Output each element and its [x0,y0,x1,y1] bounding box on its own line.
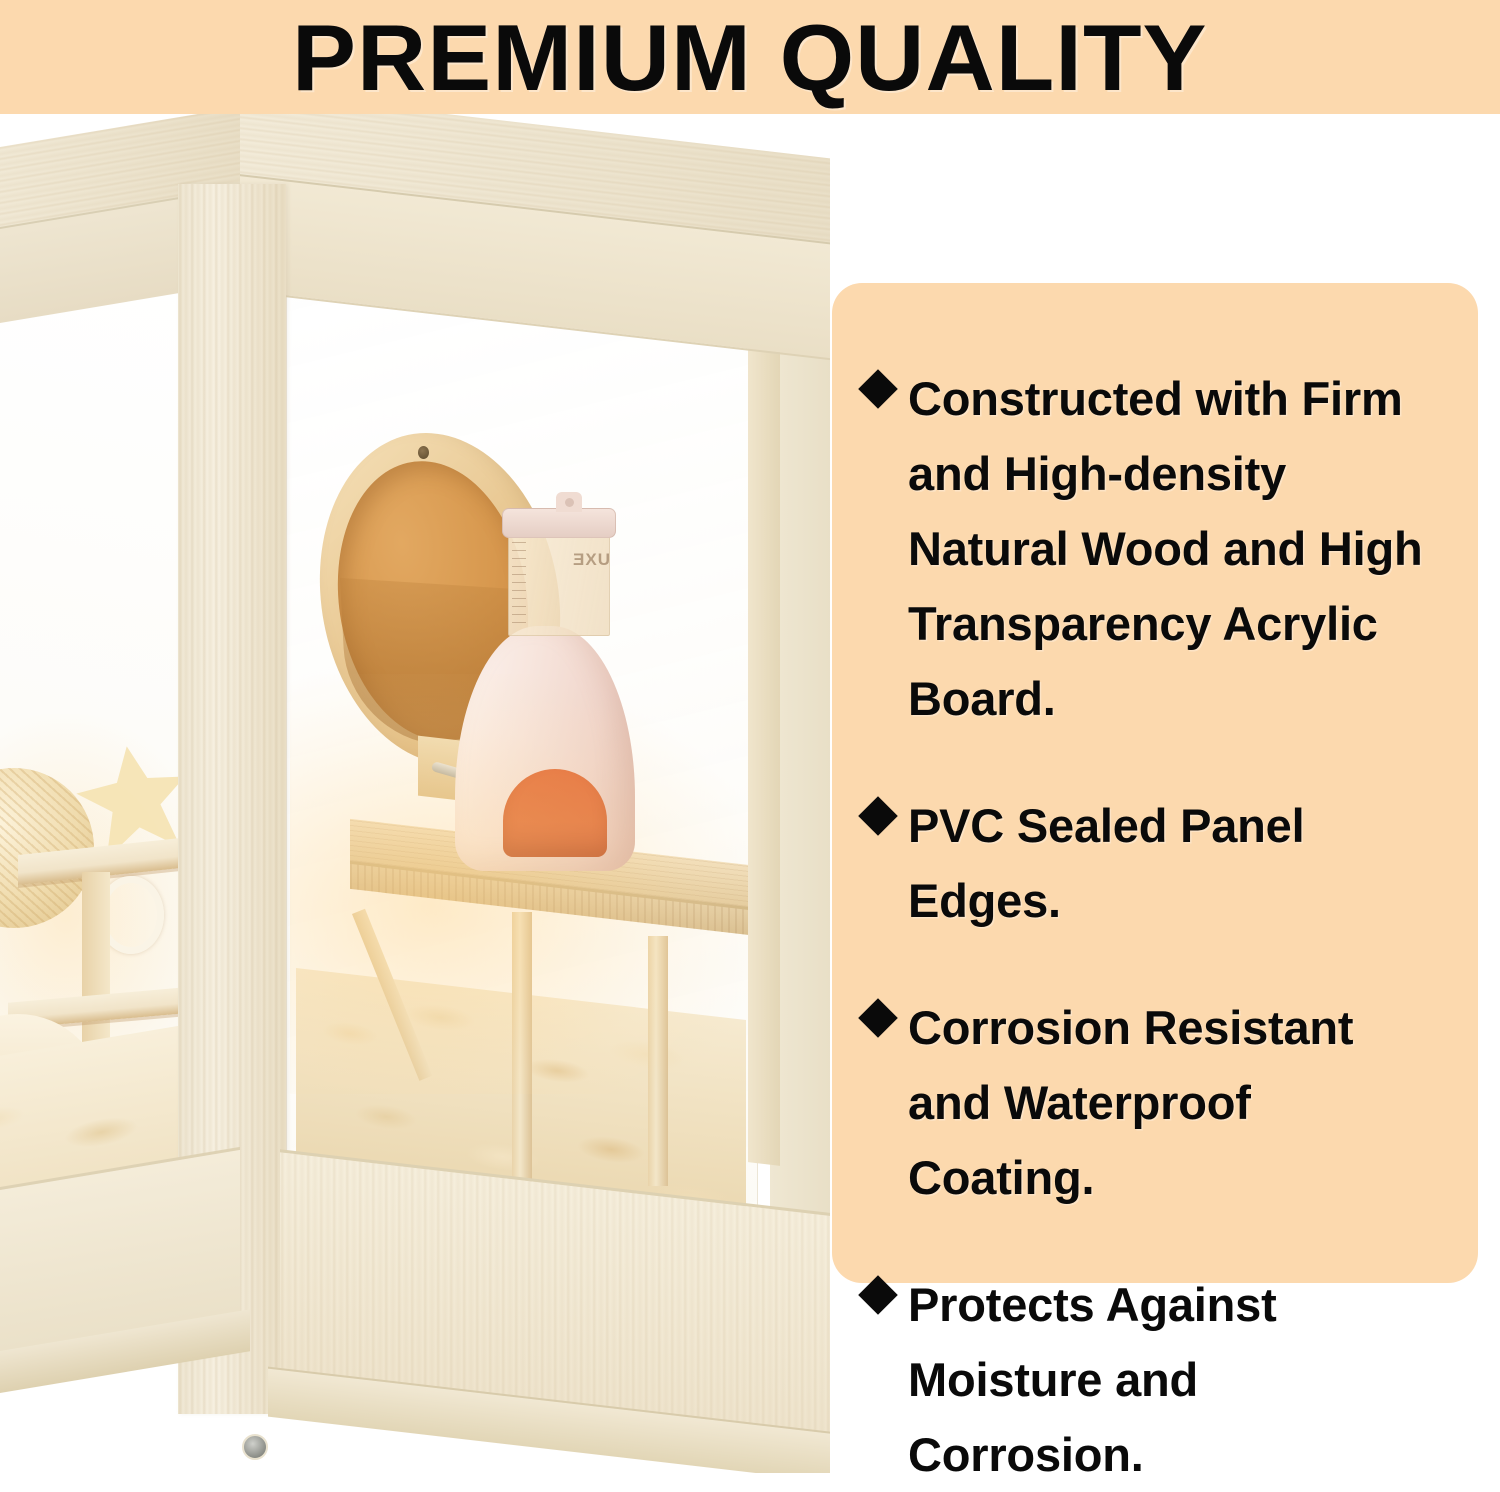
diamond-bullet-icon [858,796,898,836]
feature-bullet-text: PVC Sealed Panel Edges. [908,788,1446,938]
product-photo: UXE [0,114,830,1473]
feature-panel: Constructed with Firm and High-density N… [832,283,1478,1283]
screw-icon [242,1434,268,1460]
water-bottle-cap [502,508,616,538]
diamond-bullet-icon [858,998,898,1038]
header-banner: PREMIUM QUALITY [0,0,1500,114]
feature-bullet-text: Constructed with Firm and High-density N… [908,361,1446,736]
water-bottle-label: UXE [572,550,610,568]
screw-icon [418,446,429,459]
feature-bullet: PVC Sealed Panel Edges. [864,788,1446,938]
feature-bullet-text: Protects Against Moisture and Corrosion. [908,1267,1446,1492]
feature-bullet: Protects Against Moisture and Corrosion. [864,1267,1446,1492]
platform-left-leg [82,872,110,1052]
cage-stile-right [748,282,780,1166]
feature-bullet: Constructed with Firm and High-density N… [864,361,1446,736]
feature-bullet-text: Corrosion Resistant and Waterproof Coati… [908,990,1446,1215]
shelf-leg [512,912,532,1197]
water-bottle-hanger-hole [565,498,574,507]
water-bottle-scale [512,526,526,626]
page-title: PREMIUM QUALITY [292,11,1207,105]
diamond-bullet-icon [858,1275,898,1315]
diamond-bullet-icon [858,369,898,409]
feature-bullet: Corrosion Resistant and Waterproof Coati… [864,990,1446,1215]
shelf-leg [648,936,668,1186]
